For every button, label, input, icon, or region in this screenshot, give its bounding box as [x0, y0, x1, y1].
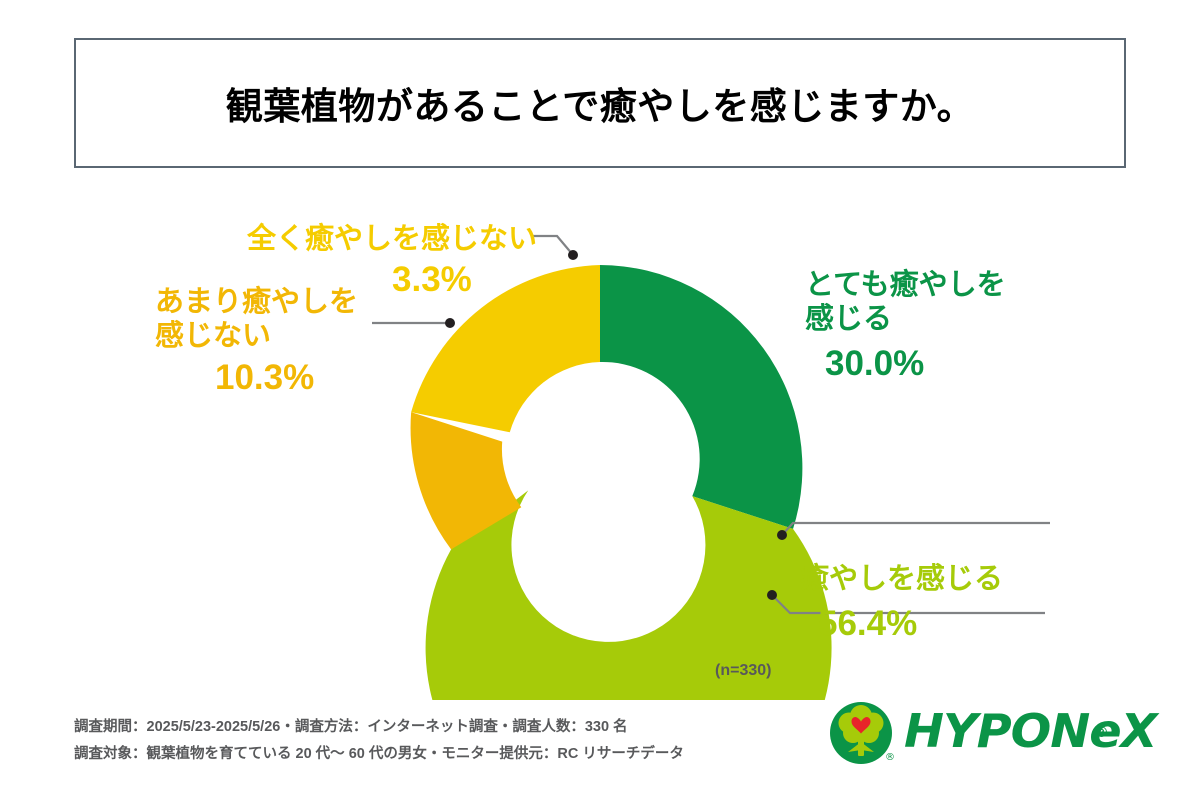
callout-some: 癒やしを感じる 56.4%: [800, 562, 1003, 645]
hyponex-logo: ® HYPONeX ®: [828, 702, 1128, 766]
donut-chart: とても癒やしを 感じる 30.0% 癒やしを感じる 56.4% あまり癒やしを …: [0, 180, 1200, 700]
footer-line-2: 調査対象：観葉植物を育てている 20 代〜 60 代の男女・モニター提供元：RC…: [74, 741, 774, 768]
callout-some-percent: 56.4%: [818, 603, 1003, 644]
callout-very-percent: 30.0%: [825, 343, 1006, 384]
callout-very: とても癒やしを 感じる 30.0%: [805, 268, 1006, 385]
callout-none-line1: 全く癒やしを感じない: [247, 222, 537, 256]
callout-some-line1: 癒やしを感じる: [800, 562, 1003, 596]
callout-very-line2: 感じる: [805, 302, 1006, 336]
mark-registered-symbol: ®: [885, 752, 895, 763]
slice-very[interactable]: [600, 265, 802, 529]
title-box: 観葉植物があることで癒やしを感じますか。: [74, 38, 1126, 168]
leader-line-none: [531, 236, 578, 260]
donut-chart-svg: [0, 180, 1200, 700]
hyponex-wordmark: HYPONeX: [904, 704, 1157, 758]
footer-line-1: 調査期間：2025/5/23-2025/5/26・調査方法：インターネット調査・…: [74, 714, 774, 741]
callout-none-percent: 3.3%: [392, 259, 537, 300]
callout-very-line1: とても癒やしを: [805, 268, 1006, 302]
footer: 調査期間：2025/5/23-2025/5/26・調査方法：インターネット調査・…: [74, 714, 774, 768]
callout-little-percent: 10.3%: [215, 357, 358, 398]
sample-size-note: (n=330): [715, 662, 771, 680]
callout-little-line2: 感じない: [155, 319, 358, 353]
leader-line-little: [372, 318, 455, 328]
registered-symbol: ®: [1096, 724, 1107, 741]
wordmark-part-1: HYPON: [904, 704, 1089, 758]
leader-line-very: [777, 523, 1050, 540]
page-title: 観葉植物があることで癒やしを感じますか。: [226, 76, 974, 130]
callout-none: 全く癒やしを感じない 3.3%: [247, 222, 537, 301]
wordmark-part-3: X: [1121, 704, 1157, 758]
hyponex-tree-mark-icon: ®: [828, 702, 902, 766]
callout-little: あまり癒やしを 感じない 10.3%: [155, 285, 358, 399]
